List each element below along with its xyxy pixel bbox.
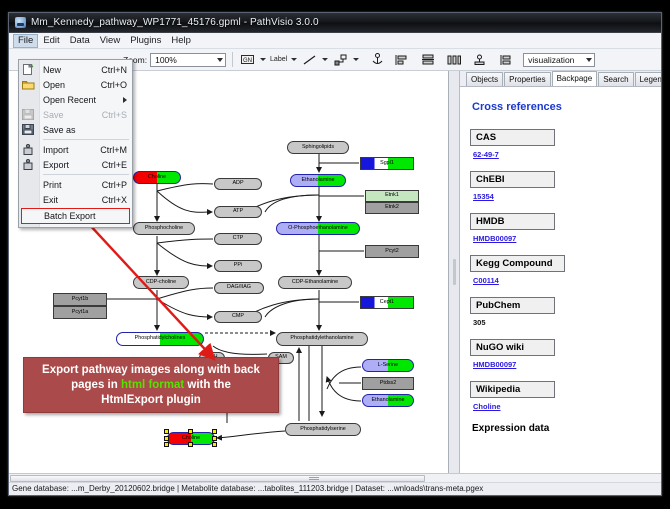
menu-bar: File Edit Data View Plugins Help bbox=[9, 33, 661, 49]
pathvisio-window: Mm_Kennedy_pathway_WP1771_45176.gpml - P… bbox=[8, 12, 662, 496]
svg-text:GN: GN bbox=[243, 58, 252, 64]
menu-separator bbox=[43, 174, 129, 175]
new-document-icon bbox=[22, 64, 35, 75]
chevron-right-icon bbox=[123, 97, 127, 103]
annotation-callout: Export pathway images along with back pa… bbox=[23, 357, 279, 413]
selection-handle[interactable] bbox=[188, 442, 193, 447]
title-bar: Mm_Kennedy_pathway_WP1771_45176.gpml - P… bbox=[9, 13, 661, 33]
node-label: CDP-choline bbox=[146, 280, 176, 285]
node-label: Pcyt2 bbox=[385, 249, 398, 254]
xref-link[interactable]: HMDB00097 bbox=[473, 360, 516, 369]
menu-item-label: Batch Export bbox=[44, 211, 96, 221]
gene-node-pcyt1a[interactable]: Pcyt1a bbox=[53, 306, 107, 319]
menu-item-label: Open Recent bbox=[43, 95, 96, 105]
selection-handle[interactable] bbox=[212, 436, 217, 441]
menu-item-label: Export bbox=[43, 160, 69, 170]
node-label: Ethanolamine bbox=[372, 398, 405, 403]
side-panel: Objects Properties Backpage Search Legen… bbox=[460, 71, 661, 473]
toolbar-separator bbox=[232, 52, 233, 67]
xref-link[interactable]: 62-49-7 bbox=[473, 150, 499, 159]
metabolite-node-ethanolamine-2[interactable]: Ethanolamine bbox=[362, 394, 414, 407]
file-menu-item-import[interactable]: ImportCtrl+M bbox=[19, 142, 132, 157]
scrollbar-grip-icon bbox=[309, 477, 319, 480]
node-label: ATP bbox=[233, 209, 243, 214]
file-menu-item-open-recent[interactable]: Open Recent bbox=[19, 92, 132, 107]
scrollbar-thumb[interactable] bbox=[10, 475, 425, 482]
file-menu-item-export[interactable]: ExportCtrl+E bbox=[19, 157, 132, 172]
menu-separator bbox=[43, 139, 129, 140]
gpml-element-dropdown-icon[interactable] bbox=[259, 52, 267, 68]
metabolite-node-cdp-eth[interactable]: CDP-Ethanolamine bbox=[278, 276, 352, 289]
xref-source-cas: CAS bbox=[470, 129, 555, 146]
xref-link[interactable]: C00114 bbox=[473, 276, 499, 285]
metabolite-node-choline-top[interactable]: Choline bbox=[133, 171, 181, 184]
menu-file[interactable]: File bbox=[13, 34, 38, 48]
menu-help[interactable]: Help bbox=[166, 34, 196, 48]
menu-edit[interactable]: Edit bbox=[38, 34, 64, 48]
menu-data[interactable]: Data bbox=[65, 34, 95, 48]
node-label: Phosphatidylserine bbox=[300, 427, 346, 432]
file-menu-item-open[interactable]: OpenCtrl+O bbox=[19, 77, 132, 92]
backpage-content: Cross references CAS62-49-7ChEBI15354HMD… bbox=[460, 87, 661, 473]
annotation-line2-a: pages in bbox=[71, 379, 121, 391]
label-dropdown-icon[interactable] bbox=[290, 52, 298, 68]
zoom-combo[interactable]: 100% bbox=[150, 53, 226, 67]
file-menu-item-save-as[interactable]: Save as bbox=[19, 122, 132, 137]
metabolite-node-ethanolamine-1[interactable]: Ethanolamine bbox=[290, 174, 346, 187]
node-label: O-Phosphoethanolamine bbox=[288, 226, 348, 231]
node-label: Etnk2 bbox=[385, 205, 399, 210]
status-bar: Gene database: ...m_Derby_20120602.bridg… bbox=[9, 473, 661, 495]
gene-node-etnk2[interactable]: Etnk2 bbox=[365, 202, 419, 214]
node-label: CDP-Ethanolamine bbox=[292, 280, 338, 285]
selection-handle[interactable] bbox=[212, 429, 217, 434]
menu-item-label: Save bbox=[43, 110, 64, 120]
gene-node-cept1[interactable]: Cept1 bbox=[360, 296, 414, 309]
xref-source-wikipedia: Wikipedia bbox=[470, 381, 555, 398]
distribute-icon[interactable] bbox=[445, 52, 462, 68]
node-label: Choline bbox=[148, 175, 166, 180]
cross-reference-list: CAS62-49-7ChEBI15354HMDBHMDB00097Kegg Co… bbox=[470, 129, 653, 411]
node-label: Choline bbox=[182, 436, 200, 441]
menu-item-shortcut: Ctrl+N bbox=[101, 65, 127, 75]
stack-icon[interactable] bbox=[471, 52, 488, 68]
selection-handle[interactable] bbox=[164, 429, 169, 434]
annotation-line2-b: with the bbox=[184, 379, 231, 391]
cross-references-title: Cross references bbox=[472, 101, 653, 113]
chevron-down-icon bbox=[217, 58, 223, 62]
gene-node-pcyt2[interactable]: Pcyt2 bbox=[365, 245, 419, 258]
tab-properties[interactable]: Properties bbox=[504, 72, 550, 86]
metabolite-node-atp[interactable]: ATP bbox=[214, 206, 262, 218]
tab-legend[interactable]: Legend bbox=[635, 72, 661, 86]
menu-item-shortcut: Ctrl+X bbox=[102, 195, 127, 205]
metabolite-node-adp[interactable]: ADP bbox=[214, 178, 262, 190]
node-label: DAG/IIAG bbox=[227, 285, 251, 290]
expression-data-title: Expression data bbox=[472, 423, 653, 434]
status-text: Gene database: ...m_Derby_20120602.bridg… bbox=[12, 484, 483, 493]
xref-value-hmdb[interactable]: HMDB00097 bbox=[473, 234, 653, 243]
group-icon[interactable] bbox=[497, 52, 514, 68]
horizontal-scrollbar[interactable] bbox=[9, 474, 661, 483]
zoom-value: 100% bbox=[155, 55, 177, 65]
node-label: Pcyt1a bbox=[72, 310, 88, 315]
file-menu-item-print[interactable]: PrintCtrl+P bbox=[19, 177, 132, 192]
visualization-combo[interactable]: visualization bbox=[523, 53, 595, 67]
line-icon[interactable] bbox=[301, 52, 318, 68]
annotation-line1: Export pathway images along with back bbox=[42, 364, 260, 376]
selection-handle[interactable] bbox=[164, 436, 169, 441]
menu-view[interactable]: View bbox=[95, 34, 125, 48]
node-label: L-Serine bbox=[378, 363, 398, 368]
menu-item-label: Import bbox=[43, 145, 69, 155]
metabolite-node-phosphocholine[interactable]: Phosphocholine bbox=[133, 222, 195, 235]
node-label: Ptdss2 bbox=[380, 381, 396, 386]
metabolite-node-ptd-eth[interactable]: Phosphatidylethanolamine bbox=[276, 332, 368, 346]
xref-link[interactable]: HMDB00097 bbox=[473, 234, 516, 243]
annotation-highlight: html format bbox=[121, 379, 184, 391]
label-button-text: Label bbox=[270, 56, 287, 63]
node-label: Cept1 bbox=[380, 300, 394, 305]
xref-link[interactable]: 15354 bbox=[473, 192, 494, 201]
align-center-icon[interactable] bbox=[419, 52, 436, 68]
selection-handle[interactable] bbox=[188, 429, 193, 434]
xref-value-nugo-wiki[interactable]: HMDB00097 bbox=[473, 360, 653, 369]
line-dropdown-icon[interactable] bbox=[321, 52, 329, 68]
node-label: Sphingolipids bbox=[302, 145, 334, 150]
xref-link[interactable]: Choline bbox=[473, 402, 501, 411]
metabolite-node-o-phospho-eth[interactable]: O-Phosphoethanolamine bbox=[276, 222, 360, 235]
menu-item-label: Exit bbox=[43, 195, 58, 205]
metabolite-node-cdp-choline[interactable]: CDP-choline bbox=[133, 276, 189, 289]
node-label: ADP bbox=[232, 181, 243, 186]
sidebar-tabs: Objects Properties Backpage Search Legen… bbox=[460, 71, 661, 87]
node-label: Phosphatidylethanolamine bbox=[290, 336, 353, 341]
node-label: Ethanolamine bbox=[302, 178, 335, 183]
menu-item-label: Print bbox=[43, 180, 62, 190]
node-label: Sgpl1 bbox=[380, 161, 394, 166]
menu-item-shortcut: Ctrl+O bbox=[101, 80, 127, 90]
screenshot-root: Mm_Kennedy_pathway_WP1771_45176.gpml - P… bbox=[0, 0, 670, 509]
gene-node-sgpl1[interactable]: Sgpl1 bbox=[360, 157, 414, 170]
menu-item-shortcut: Ctrl+M bbox=[100, 145, 127, 155]
open-folder-icon bbox=[22, 79, 35, 90]
file-menu-item-batch-export[interactable]: Batch Export bbox=[21, 208, 130, 224]
gpml-element-icon[interactable]: GN bbox=[239, 52, 256, 68]
metabolite-node-dag-iiag[interactable]: DAG/IIAG bbox=[214, 282, 264, 294]
file-menu-items: NewCtrl+NOpenCtrl+OOpen RecentSaveCtrl+S… bbox=[19, 62, 132, 224]
file-menu-item-new[interactable]: NewCtrl+N bbox=[19, 62, 132, 77]
xref-value-pubchem: 305 bbox=[473, 318, 653, 327]
interaction-icon[interactable] bbox=[332, 52, 349, 68]
gene-node-etnk1[interactable]: Etnk1 bbox=[365, 190, 419, 202]
file-menu-item-exit[interactable]: ExitCtrl+X bbox=[19, 192, 132, 207]
node-label: CTP bbox=[233, 236, 244, 241]
menu-item-shortcut: Ctrl+S bbox=[102, 110, 127, 120]
xref-source-kegg-compound: Kegg Compound bbox=[470, 255, 565, 272]
tab-backpage[interactable]: Backpage bbox=[552, 71, 598, 86]
node-label: PPi bbox=[234, 263, 242, 268]
save-as-disk-icon bbox=[22, 124, 35, 135]
file-menu-popup[interactable]: NewCtrl+NOpenCtrl+OOpen RecentSaveCtrl+S… bbox=[18, 59, 133, 228]
save-disk-icon bbox=[22, 109, 35, 120]
node-label: CMP bbox=[232, 314, 244, 319]
pathvisio-icon bbox=[15, 17, 26, 28]
gene-node-ptdss2[interactable]: Ptdss2 bbox=[362, 377, 414, 390]
import-icon bbox=[22, 144, 35, 155]
xref-source-nugo-wiki: NuGO wiki bbox=[470, 339, 555, 356]
menu-plugins[interactable]: Plugins bbox=[125, 34, 166, 48]
metabolite-node-ptdserine[interactable]: Phosphatidylserine bbox=[285, 423, 361, 436]
node-label: Phosphocholine bbox=[145, 226, 183, 231]
visualization-value: visualization bbox=[528, 55, 574, 65]
menu-item-shortcut: Ctrl+P bbox=[102, 180, 127, 190]
node-label: Etnk1 bbox=[385, 193, 399, 198]
metabolite-node-l-serine[interactable]: L-Serine bbox=[362, 359, 414, 372]
node-label: Phosphatidylcholines bbox=[135, 336, 186, 341]
menu-item-label: Save as bbox=[43, 125, 76, 135]
metabolite-node-ctp[interactable]: CTP bbox=[214, 233, 262, 245]
tab-objects[interactable]: Objects bbox=[466, 72, 503, 86]
xref-value-wikipedia[interactable]: Choline bbox=[473, 402, 653, 411]
menu-item-shortcut: Ctrl+E bbox=[102, 160, 127, 170]
node-label: Pcyt1b bbox=[72, 297, 88, 302]
file-menu-item-save[interactable]: SaveCtrl+S bbox=[19, 107, 132, 122]
menu-item-label: New bbox=[43, 65, 61, 75]
panel-divider[interactable] bbox=[449, 71, 460, 473]
window-title: Mm_Kennedy_pathway_WP1771_45176.gpml - P… bbox=[31, 17, 319, 28]
xref-value-chebi[interactable]: 15354 bbox=[473, 192, 653, 201]
anchor-icon[interactable] bbox=[369, 52, 386, 68]
xref-value-kegg-compound[interactable]: C00114 bbox=[473, 276, 653, 285]
selection-handle[interactable] bbox=[212, 442, 217, 447]
selection-handle[interactable] bbox=[164, 442, 169, 447]
xref-source-hmdb: HMDB bbox=[470, 213, 555, 230]
annotation-line3: HtmlExport plugin bbox=[101, 394, 201, 406]
gene-node-pcyt1b[interactable]: Pcyt1b bbox=[53, 293, 107, 306]
metabolite-node-sphingolipids[interactable]: Sphingolipids bbox=[287, 141, 349, 154]
align-left-icon[interactable] bbox=[393, 52, 410, 68]
xref-value-cas[interactable]: 62-49-7 bbox=[473, 150, 653, 159]
chevron-down-icon bbox=[586, 58, 592, 62]
metabolite-node-ptdcholines[interactable]: Phosphatidylcholines bbox=[116, 332, 204, 346]
interaction-dropdown-icon[interactable] bbox=[352, 52, 360, 68]
menu-item-label: Open bbox=[43, 80, 65, 90]
metabolite-node-ppi[interactable]: PPi bbox=[214, 260, 262, 272]
xref-source-chebi: ChEBI bbox=[470, 171, 555, 188]
xref-source-pubchem: PubChem bbox=[470, 297, 555, 314]
export-icon bbox=[22, 159, 35, 170]
label-icon[interactable]: Label bbox=[270, 52, 287, 68]
metabolite-node-cmp[interactable]: CMP bbox=[214, 311, 262, 323]
tab-search[interactable]: Search bbox=[598, 72, 633, 86]
